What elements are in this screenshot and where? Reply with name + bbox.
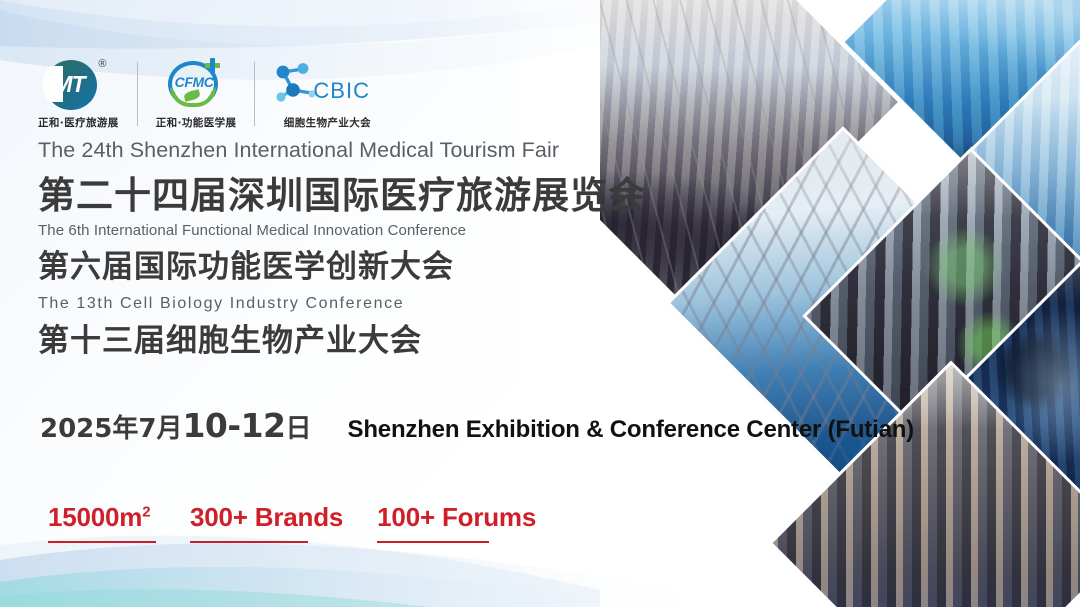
stat-area-rule xyxy=(48,541,156,543)
medical-plus-icon xyxy=(205,58,220,73)
title-english-1: The 24th Shenzhen International Medical … xyxy=(38,138,646,163)
title-english-2: The 6th International Functional Medical… xyxy=(38,222,466,239)
mt-letters: MT xyxy=(53,71,84,98)
title-chinese-1: 第二十四届深圳国际医疗旅游展览会 xyxy=(38,165,646,219)
cfmc-letters: CFMC xyxy=(170,74,218,90)
logo-cfmc-caption: 正和·功能医学展 xyxy=(156,115,237,130)
event-date-days: 10-12 xyxy=(182,406,285,445)
photo-collage xyxy=(600,0,1080,607)
event-date-suffix: 日 xyxy=(286,408,312,445)
title-english-3: The 13th Cell Biology Industry Conferenc… xyxy=(38,295,422,313)
stat-brands-value: 300+ Brands xyxy=(190,503,343,532)
logo-cfmc: CFMC 正和·功能医学展 xyxy=(156,52,237,136)
event-date-prefix: 2025年7月 xyxy=(40,408,182,445)
title-block-cell-biology: The 13th Cell Biology Industry Conferenc… xyxy=(38,295,422,360)
stat-forums-value: 100+ Forums xyxy=(377,503,536,532)
title-chinese-3: 第十三届细胞生物产业大会 xyxy=(38,315,422,360)
cbic-letters: CBIC xyxy=(313,78,370,104)
stat-brands: 300+ Brands xyxy=(190,503,343,543)
stat-area-superscript: 2 xyxy=(142,503,150,520)
stat-area-number: 15000m xyxy=(48,502,142,532)
logo-cbic-caption: 细胞生物产业大会 xyxy=(284,115,371,130)
date-venue-bar: 2025年7月 10-12 日 Shenzhen Exhibition & Co… xyxy=(40,406,914,445)
logo-divider xyxy=(254,62,255,126)
event-poster: MT ® 正和·医疗旅游展 CFMC 正和·功能医学展 xyxy=(0,0,1080,607)
poster-content: MT ® 正和·医疗旅游展 CFMC 正和·功能医学展 xyxy=(0,0,660,607)
cfmc-mark-icon: CFMC xyxy=(160,58,232,112)
registered-trademark-icon: ® xyxy=(98,58,106,70)
logo-mt-caption: 正和·医疗旅游展 xyxy=(38,115,119,130)
event-venue: Shenzhen Exhibition & Conference Center … xyxy=(348,416,914,444)
logo-mt: MT ® 正和·医疗旅游展 xyxy=(38,52,119,136)
logo-divider xyxy=(137,62,138,126)
stat-forums: 100+ Forums xyxy=(377,503,536,543)
stats-row: 15000m2 300+ Brands 100+ Forums xyxy=(48,503,570,543)
stat-forums-rule xyxy=(377,541,489,543)
logo-row: MT ® 正和·医疗旅游展 CFMC 正和·功能医学展 xyxy=(38,52,381,136)
logo-cbic: CBIC 细胞生物产业大会 xyxy=(273,52,381,136)
title-block-medical-tourism-fair: The 24th Shenzhen International Medical … xyxy=(38,138,646,219)
stat-brands-rule xyxy=(190,541,308,543)
cbic-mark-icon: CBIC xyxy=(273,58,381,112)
title-chinese-2: 第六届国际功能医学创新大会 xyxy=(38,241,466,286)
mt-mark-icon: MT ® xyxy=(41,58,115,112)
stat-area: 15000m2 xyxy=(48,503,156,543)
stat-area-value: 15000m2 xyxy=(48,503,156,532)
title-block-functional-medicine: The 6th International Functional Medical… xyxy=(38,222,466,286)
